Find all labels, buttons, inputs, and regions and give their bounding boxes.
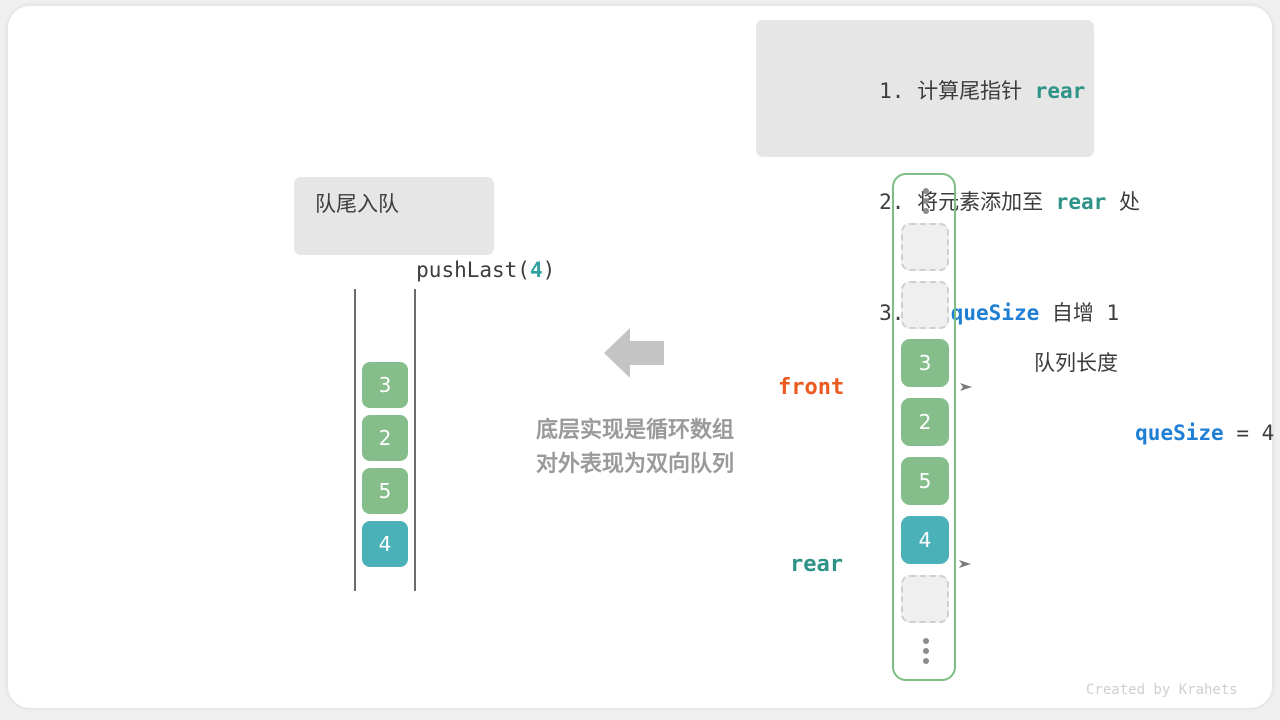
queue-size-equals: = [1224, 421, 1262, 445]
center-note-line1: 底层实现是循环数组 [490, 414, 780, 448]
center-note-line2: 对外表现为双向队列 [490, 448, 780, 482]
circular-array-container: 3 2 5 4 [892, 173, 956, 681]
deque-cell: 5 [362, 468, 408, 514]
queue-size-var: queSize [1135, 421, 1224, 445]
deque-rail-right [414, 289, 416, 591]
queue-size-title: 队列长度 [1034, 347, 1264, 379]
step-text-post: 处 [1106, 190, 1140, 214]
step-text-post: 自增 1 [1039, 301, 1119, 325]
operation-call-arg: 4 [530, 258, 543, 282]
pointer-front-label: front [778, 375, 844, 400]
pointer-rear: rear [790, 527, 972, 602]
slide-card: 1. 计算尾指针 rear 2. 将元素添加至 rear 处 3. 将 queS… [8, 6, 1272, 708]
step-line: 1. 计算尾指针 rear [778, 36, 1072, 147]
pointer-rear-label: rear [790, 552, 843, 577]
slide-canvas: 1. 计算尾指针 rear 2. 将元素添加至 rear 处 3. 将 queS… [0, 0, 1280, 720]
step-keyword: rear [1056, 190, 1107, 214]
pointer-rear-arrow-icon [852, 527, 972, 602]
queue-size-value: 4 [1262, 421, 1275, 445]
deque-rail-left [354, 289, 356, 591]
queue-size-note: 队列长度 queSize = 4 [1034, 347, 1264, 487]
deque-cell-list: 3 2 5 4 [362, 362, 408, 574]
deque-cell: 2 [362, 415, 408, 461]
array-ellipsis-top-icon [894, 181, 958, 221]
pointer-front: front [778, 350, 973, 425]
pointer-front-arrow-icon [853, 350, 973, 425]
step-keyword: rear [1035, 79, 1086, 103]
operation-title: 队尾入队 [315, 188, 473, 221]
step-text-pre: 计算尾指针 [904, 79, 1034, 103]
deque-cell: 3 [362, 362, 408, 408]
deque-abstract-view: 3 2 5 4 [348, 289, 422, 591]
step-index: 1. [879, 79, 904, 103]
operation-call-suffix: ) [543, 258, 556, 282]
array-ellipsis-bottom-icon [894, 631, 958, 671]
operation-call-prefix: pushLast( [416, 258, 530, 282]
flow-arrow-left-icon [604, 328, 664, 378]
array-slot-empty [901, 223, 949, 271]
array-slot-filled: 5 [901, 457, 949, 505]
operation-label-box: 队尾入队 pushLast(4) [294, 177, 494, 255]
array-slot-empty [901, 281, 949, 329]
deque-cell: 4 [362, 521, 408, 567]
step-keyword: queSize [951, 301, 1040, 325]
queue-size-expression: queSize = 4 [1034, 379, 1264, 487]
center-note: 底层实现是循环数组 对外表现为双向队列 [490, 414, 780, 482]
steps-instruction-box: 1. 计算尾指针 rear 2. 将元素添加至 rear 处 3. 将 queS… [756, 20, 1094, 157]
credit-text: Created by Krahets [1086, 682, 1238, 698]
